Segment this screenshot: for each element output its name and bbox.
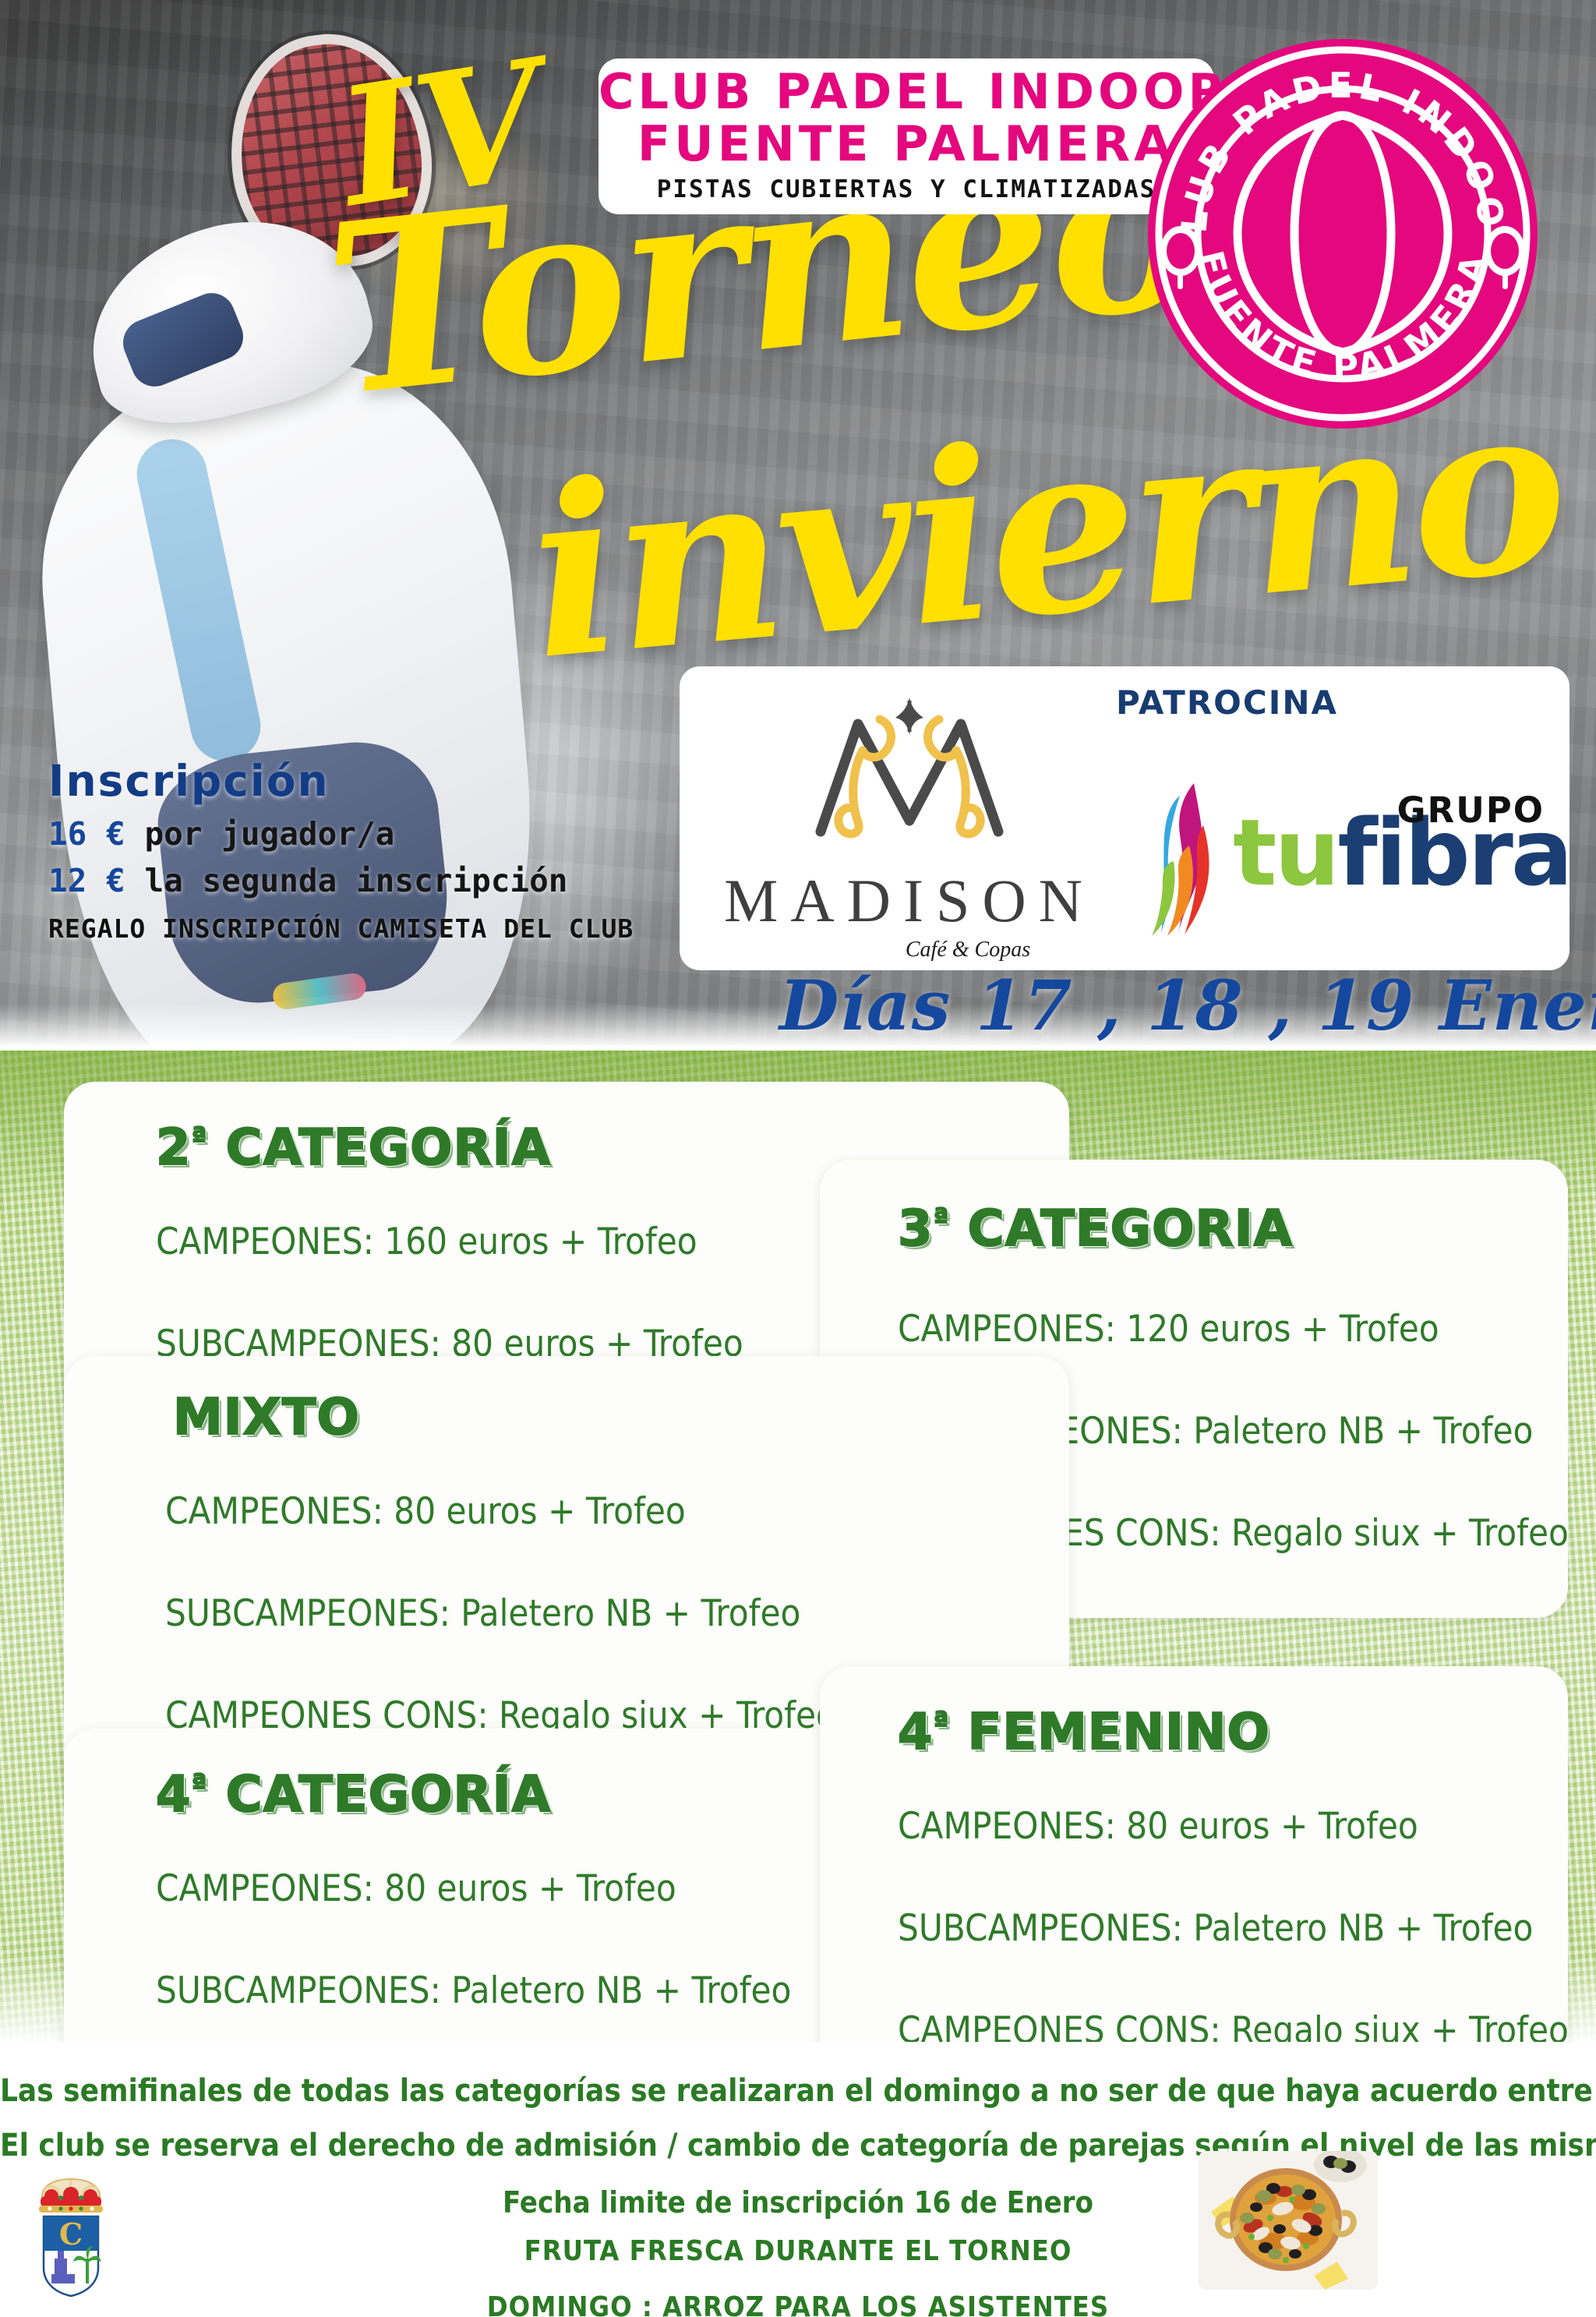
prize-row: CAMPEONES: 80 euros + Trofeo xyxy=(156,1867,827,1910)
prize-row: SUBCAMPEONES: Paletero NB + Trofeo xyxy=(898,1907,1569,1950)
category-title: 4ª CATEGORÍA xyxy=(156,1766,551,1824)
price-2-amount: 12 € xyxy=(48,862,125,899)
prize-row: SUBCAMPEONES: Paletero NB + Trofeo xyxy=(156,1969,827,2012)
registration-price-1: 16 € por jugador/a xyxy=(48,815,634,853)
category-title: 3ª CATEGORIA xyxy=(898,1200,1293,1258)
club-name-line2: FUENTE PALMERA xyxy=(598,118,1214,171)
madison-logo: MADISON Café & Copas xyxy=(703,683,1116,962)
paella-photo xyxy=(1199,2151,1378,2290)
tufibra-logo: tufibra GRUPO xyxy=(1147,769,1552,948)
tufibra-grupo-label: GRUPO xyxy=(1397,789,1545,831)
footer-line-semifinales: Las semifinales de todas las categorías … xyxy=(0,2073,1596,2109)
madison-monogram-icon xyxy=(793,683,1026,863)
club-name-card: CLUB PADEL INDOOR FUENTE PALMERA PISTAS … xyxy=(598,58,1214,214)
club-name-line1: CLUB PADEL INDOOR xyxy=(598,66,1214,118)
tournament-dates: Días 17 , 18 , 19 Enero xyxy=(779,965,1596,1046)
madison-wordmark: MADISON xyxy=(703,866,1116,936)
category-title: 4ª FEMENINO xyxy=(898,1704,1270,1761)
prize-row: CAMPEONES: 160 euros + Trofeo xyxy=(156,1220,781,1263)
price-2-label: la segunda inscripción xyxy=(144,862,567,899)
category-title: MIXTO xyxy=(173,1389,360,1446)
fuente-palmera-coat-of-arms-icon: C xyxy=(20,2173,122,2304)
prize-row: SUBCAMPEONES: Paletero NB + Trofeo xyxy=(165,1592,836,1635)
sponsor-panel: PATROCINA MADISON Café & Copas xyxy=(680,666,1570,970)
registration-title: Inscripción xyxy=(48,756,634,806)
prize-row: CAMPEONES: 80 euros + Trofeo xyxy=(898,1805,1569,1848)
price-1-amount: 16 € xyxy=(48,815,125,853)
poster-root: IV Torneo invierno CLUB PADEL INDOOR FUE… xyxy=(0,0,1596,2317)
registration-info: Inscripción 16 € por jugador/a 12 € la s… xyxy=(48,756,634,944)
prize-row: CAMPEONES: 120 euros + Trofeo xyxy=(898,1308,1569,1351)
registration-price-2: 12 € la segunda inscripción xyxy=(48,862,634,899)
tufibra-flame-icon xyxy=(1139,777,1241,941)
tufibra-part-tu: tu xyxy=(1233,799,1337,906)
footer-line-arroz: DOMINGO : ARROZ PARA LOS ASISTENTES xyxy=(0,2291,1596,2317)
registration-gift: REGALO INSCRIPCIÓN CAMISETA DEL CLUB xyxy=(48,913,634,944)
sponsor-label: PATROCINA xyxy=(1116,683,1338,722)
prize-row: CAMPEONES: 80 euros + Trofeo xyxy=(165,1490,836,1533)
price-1-label: por jugador/a xyxy=(144,815,394,853)
category-title: 2ª CATEGORÍA xyxy=(156,1119,551,1177)
club-tagline: PISTAS CUBIERTAS Y CLIMATIZADAS xyxy=(598,175,1214,203)
svg-text:C: C xyxy=(59,2216,83,2252)
madison-tagline: Café & Copas xyxy=(820,938,1116,962)
